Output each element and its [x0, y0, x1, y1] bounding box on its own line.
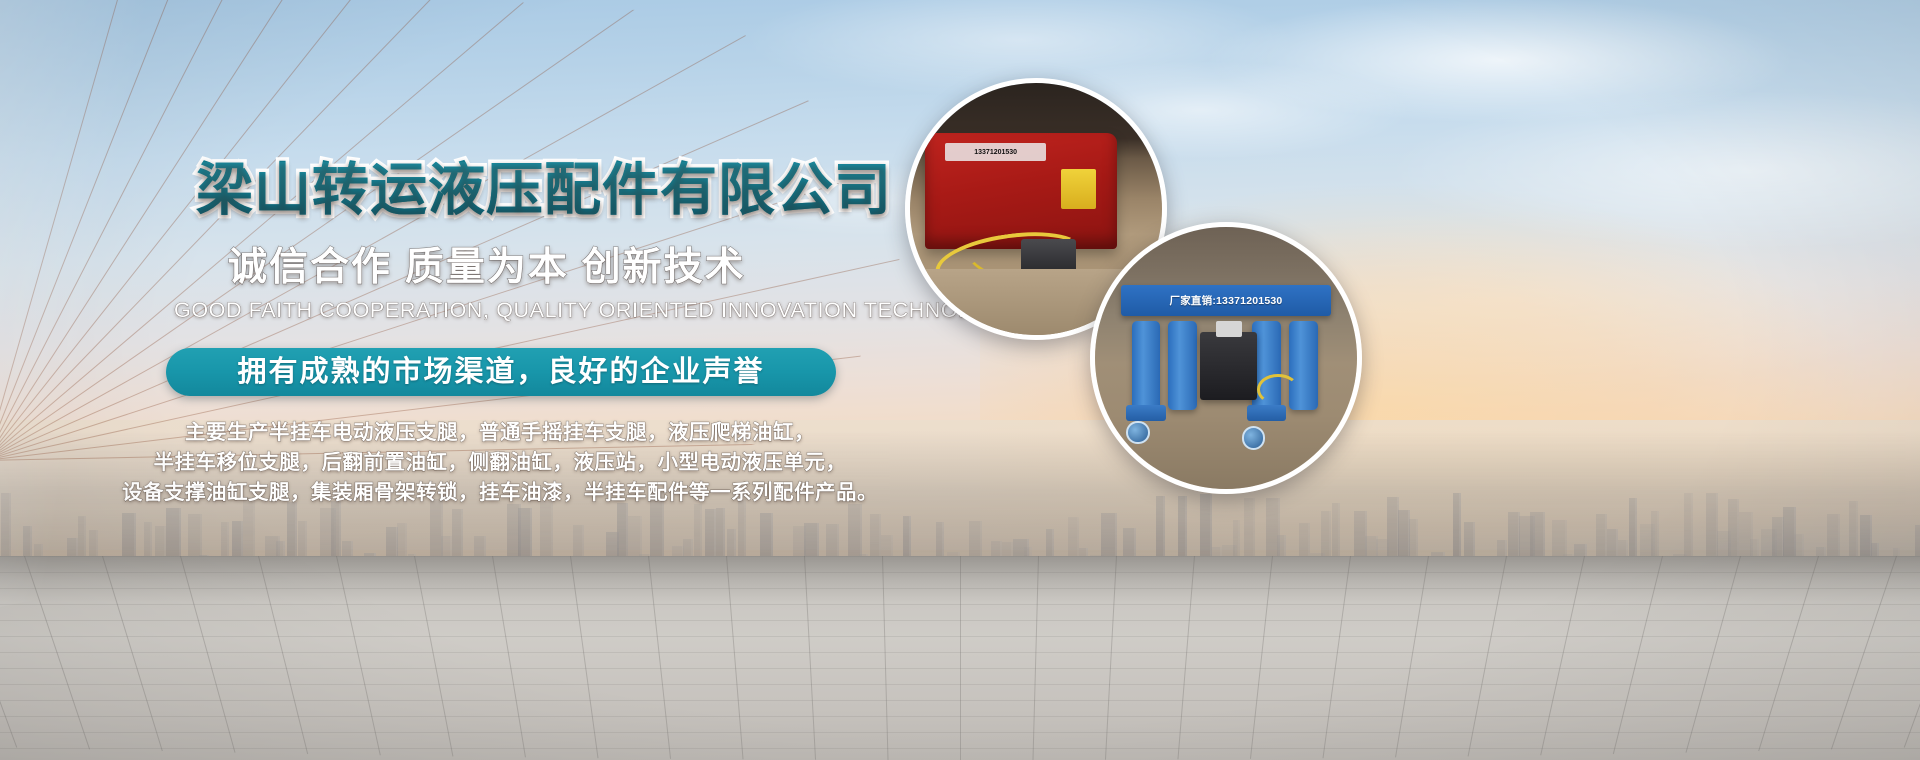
ribbon-label: 拥有成熟的市场渠道，良好的企业声誉 [237, 358, 764, 387]
red-machine-label: 13371201530 [945, 143, 1046, 161]
red-machine-warning-sticker [1061, 169, 1096, 209]
slogan-english: GOOD FAITH COOPERATION, QUALITY ORIENTED… [174, 300, 1020, 322]
blue-cylinder-2 [1168, 321, 1197, 410]
blue-foot-plate-2 [1247, 405, 1286, 421]
blue-cylinder-1 [1132, 321, 1161, 410]
company-title: 梁山转运液压配件有限公司梁山转运液压配件有限公司 [196, 162, 892, 219]
blue-caster-wheel-2 [1242, 426, 1266, 450]
copy-block: 梁山转运液压配件有限公司梁山转运液压配件有限公司 诚信合作 质量为本 创新技术 … [0, 0, 1000, 760]
description-line-1: 主要生产半挂车电动液压支腿，普通手摇挂车支腿，液压爬梯油缸， [0, 418, 1000, 448]
blue-machine-phone-banner: 厂家直销:13371201530 [1121, 285, 1331, 316]
slogan-chinese: 诚信合作 质量为本 创新技术 [228, 248, 746, 287]
blue-handle [1216, 321, 1242, 337]
description-line-3: 设备支撑油缸支腿，集装厢骨架转锁，挂车油漆，半挂车配件等一系列配件产品。 [0, 478, 1000, 508]
product-photo-blue: 厂家直销:13371201530 [1090, 222, 1362, 494]
promo-banner: 梁山转运液压配件有限公司梁山转运液压配件有限公司 诚信合作 质量为本 创新技术 … [0, 0, 1920, 760]
description-block: 主要生产半挂车电动液压支腿，普通手摇挂车支腿，液压爬梯油缸， 半挂车移位支腿，后… [0, 418, 1000, 508]
highlight-ribbon: 拥有成熟的市场渠道，良好的企业声誉 [166, 348, 836, 396]
blue-control-box [1200, 332, 1258, 400]
description-line-2: 半挂车移位支腿，后翻前置油缸，侧翻油缸，液压站，小型电动液压单元， [0, 448, 1000, 478]
company-title-fill: 梁山转运液压配件有限公司 [196, 162, 892, 219]
blue-foot-plate-1 [1126, 405, 1165, 421]
